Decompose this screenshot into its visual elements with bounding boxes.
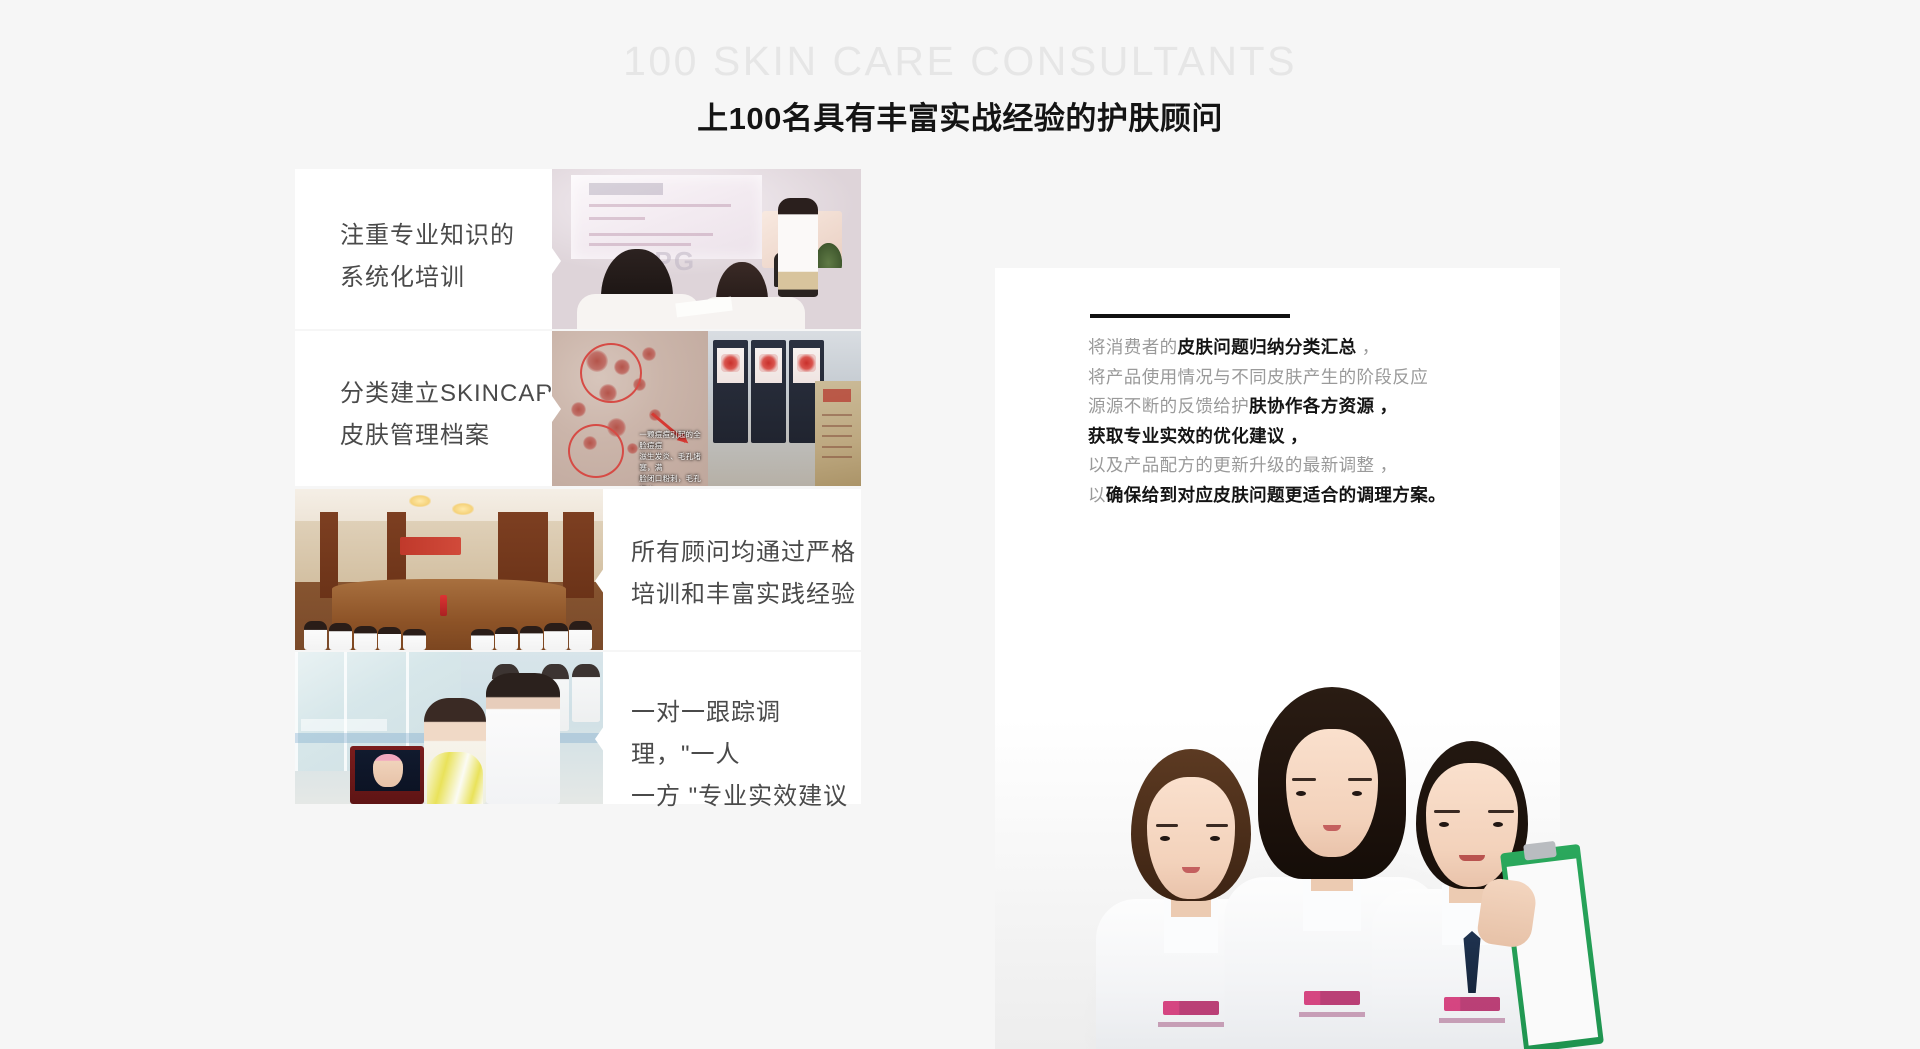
attendee (329, 623, 352, 650)
copy-line: 以及产品配方的更新升级的最新调整 ， (1088, 451, 1548, 481)
attendee (544, 623, 567, 650)
brand-logo (1304, 991, 1360, 1005)
right-copy-block: 将消费者的皮肤问题归纳分类汇总 ，将产品使用情况与不同皮肤产生的阶段反应源源不断… (1088, 333, 1548, 510)
acne-spot (627, 443, 638, 454)
copy-text: 源源不断的反馈给护 (1088, 396, 1249, 416)
copy-text: 以 (1088, 485, 1106, 505)
brand-subtext (1158, 1022, 1224, 1027)
copy-text: 将消费者的 (1088, 337, 1178, 357)
document-line (822, 414, 852, 416)
company-banner (400, 537, 462, 555)
slide-line (589, 233, 713, 236)
brand-logo (1163, 1001, 1219, 1015)
skin-analyzer-laptop (350, 746, 424, 804)
highlight-circle (580, 343, 642, 403)
slide-line (589, 204, 731, 207)
window-frame (295, 652, 298, 771)
page-title: 上100名具有丰富实战经验的护肤顾问 (0, 93, 1920, 138)
attendee-row (295, 570, 603, 651)
photo-skincare-files (708, 331, 861, 486)
window-frame (344, 652, 347, 771)
copy-emphasis: 确保给到对应皮肤问题更适合的调理方案。 (1106, 485, 1446, 505)
card-oneonone: 一对一跟踪调理，"一人 一方 "专业实效建议 (603, 652, 861, 804)
brand-subtext (1299, 1012, 1365, 1017)
clipboard-clip-icon (1523, 841, 1557, 861)
card-consultant: 所有顾问均通过严格 培训和丰富实践经验 (603, 489, 861, 650)
slide-line (589, 217, 645, 220)
ceiling-lamp (409, 495, 431, 506)
laptop-screen (355, 750, 420, 792)
copy-line: 获取专业实效的优化建议 ， (1088, 422, 1548, 452)
background-staff (572, 664, 600, 722)
eye (1210, 836, 1220, 841)
copy-emphasis: 获取专业实效的优化建议 ， (1088, 426, 1308, 446)
copy-emphasis: 肤协作各方资源 ， (1249, 396, 1397, 416)
attendee (354, 626, 377, 650)
eye (1439, 822, 1449, 827)
copy-line: 源源不断的反馈给护肤协作各方资源 ， (1088, 392, 1548, 422)
display-shelf (301, 719, 387, 731)
eyebrow (1292, 778, 1316, 781)
client-dress (427, 752, 482, 804)
eye (1160, 836, 1170, 841)
copy-emphasis: 皮肤问题归纳分类汇总 (1178, 337, 1357, 357)
attendee (403, 629, 426, 650)
photo-consultation (295, 652, 603, 804)
eyebrow (1488, 810, 1514, 813)
document-line (822, 425, 852, 427)
eyebrow (1348, 778, 1372, 781)
photo-training-session: GPG (552, 169, 861, 329)
copy-rule-divider (1090, 314, 1290, 318)
copy-line: 将产品使用情况与不同皮肤产生的阶段反应 (1088, 363, 1548, 393)
page-header: 100 SKIN CARE CONSULTANTS 上100名具有丰富实战经验的… (0, 0, 1920, 160)
binder-label (793, 348, 820, 383)
copy-line: 以确保给到对应皮肤问题更适合的调理方案。 (1088, 481, 1548, 511)
watermark-title: 100 SKIN CARE CONSULTANTS (0, 38, 1920, 85)
document-line (822, 456, 852, 458)
lecturer-figure (778, 198, 818, 297)
mouth (1459, 855, 1485, 861)
attendee (495, 627, 518, 650)
ceiling-lamp (452, 503, 474, 514)
photo-classroom (295, 489, 603, 650)
binder-label (755, 348, 782, 383)
poster-page: 100 SKIN CARE CONSULTANTS 上100名具有丰富实战经验的… (0, 0, 1920, 1049)
document-line (822, 435, 852, 437)
acne-spot (571, 402, 586, 417)
copy-text: 以及产品配方的更新升级的最新调整 ， (1088, 455, 1398, 475)
card-skincare-label: 分类建立SKINCARE 皮肤管理档案 (340, 373, 571, 457)
file-binder (751, 340, 786, 442)
document-title-stamp (823, 389, 851, 402)
archive-document (815, 381, 861, 486)
highlight-circle (568, 424, 624, 478)
consultant-figure (486, 673, 560, 804)
attendee (471, 629, 494, 650)
copy-text: 将产品使用情况与不同皮肤产生的阶段反应 (1088, 367, 1428, 387)
eye (1296, 791, 1306, 796)
acne-spot (642, 347, 656, 361)
eyebrow (1434, 810, 1460, 813)
brand-subtext (1439, 1018, 1505, 1023)
copy-text: ， (1357, 337, 1380, 357)
acne-caption-top: 一颗痘痘引起的全脸痘痘 滋生发炎、毛孔堵塞，满 脸闭口粉刺，毛孔粗大， 皮肤水油… (639, 429, 701, 486)
attendee (304, 621, 327, 650)
card-training-label: 注重专业知识的 系统化培训 (340, 215, 515, 299)
attendee (520, 626, 543, 650)
attendee (378, 627, 401, 650)
copy-line: 将消费者的皮肤问题归纳分类汇总 ， (1088, 333, 1548, 363)
scanned-face (373, 754, 403, 787)
card-oneonone-label: 一对一跟踪调理，"一人 一方 "专业实效建议 (631, 692, 861, 818)
team-photo (1072, 596, 1572, 1049)
slide-title-block (589, 183, 663, 194)
binder-label (717, 348, 744, 383)
document-line (822, 446, 852, 448)
eye (1352, 791, 1362, 796)
photo-acne-closeup: 一颗痘痘引起的全脸痘痘 滋生发炎、毛孔堵塞，满 脸闭口粉刺，毛孔粗大， 皮肤水油… (552, 331, 708, 486)
attendee (569, 621, 592, 650)
file-binder (713, 340, 748, 442)
card-consultant-label: 所有顾问均通过严格 培训和丰富实践经验 (631, 532, 856, 616)
plant-decor (815, 243, 843, 269)
eyebrow (1156, 824, 1178, 827)
eye (1493, 822, 1503, 827)
brand-logo (1444, 997, 1500, 1011)
